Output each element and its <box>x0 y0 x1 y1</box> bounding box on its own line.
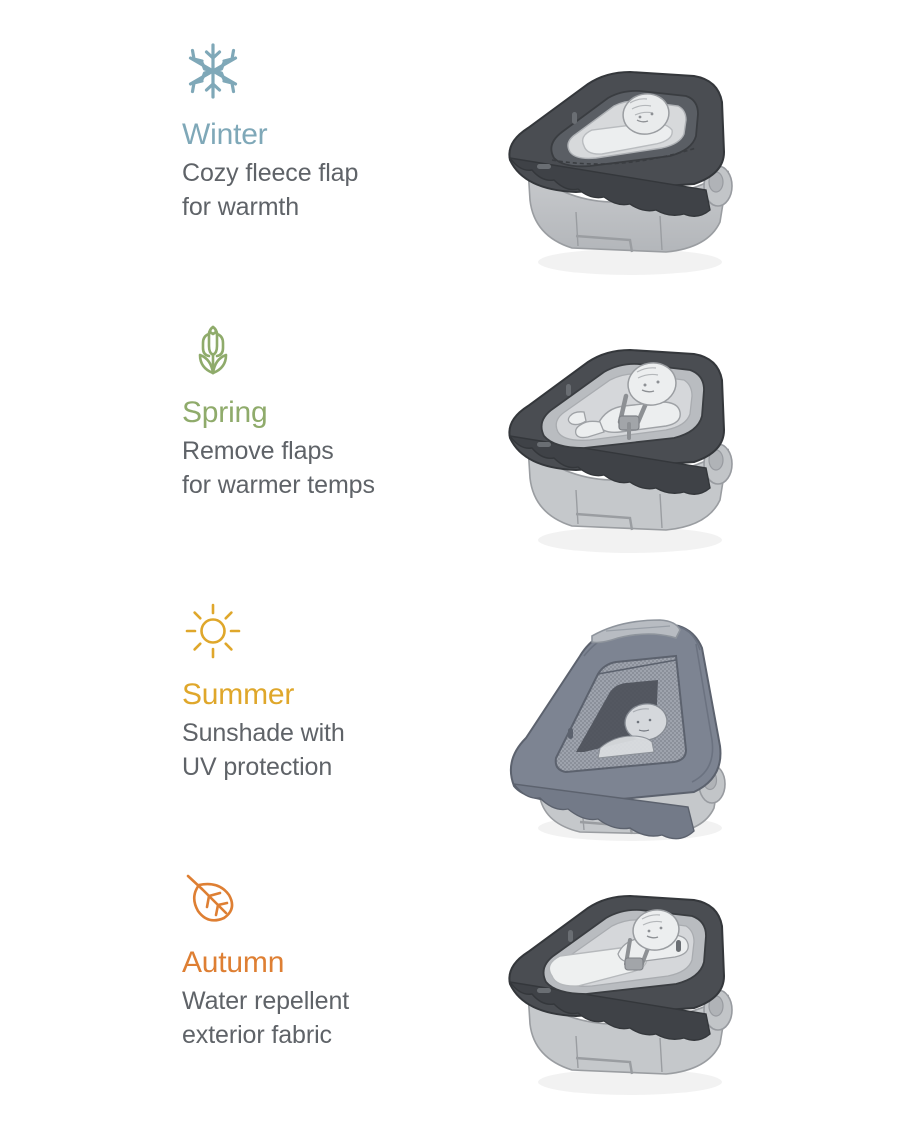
season-row-spring: Spring Remove flaps for warmer temps <box>0 318 900 583</box>
illustration-car-seat-with-fleece-flap <box>480 40 780 290</box>
season-description-spring: Remove flaps for warmer temps <box>182 434 482 502</box>
illustration-car-seat-flaps-removed <box>480 318 780 568</box>
season-text-spring: Spring Remove flaps for warmer temps <box>182 318 482 502</box>
season-label-summer: Summer <box>182 678 482 712</box>
tulip-icon <box>182 318 244 380</box>
illustration-car-seat-with-water-repellent-cover <box>480 868 780 1118</box>
season-row-summer: Summer Sunshade with UV protection <box>0 600 900 865</box>
season-text-autumn: Autumn Water repellent exterior fabric <box>182 868 482 1052</box>
season-label-autumn: Autumn <box>182 946 482 980</box>
season-text-winter: Winter Cozy fleece flap for warmth <box>182 40 482 224</box>
season-description-summer: Sunshade with UV protection <box>182 716 482 784</box>
season-label-spring: Spring <box>182 396 482 430</box>
illustration-car-seat-with-sunshade-canopy <box>480 600 780 850</box>
season-row-autumn: Autumn Water repellent exterior fabric <box>0 868 900 1133</box>
season-row-winter: Winter Cozy fleece flap for warmth <box>0 40 900 305</box>
season-label-winter: Winter <box>182 118 482 152</box>
leaf-icon <box>182 868 244 930</box>
season-description-autumn: Water repellent exterior fabric <box>182 984 482 1052</box>
seasonal-features-list: Winter Cozy fleece flap for warmth <box>0 0 900 1125</box>
season-description-winter: Cozy fleece flap for warmth <box>182 156 482 224</box>
sun-icon <box>182 600 244 662</box>
snowflake-icon <box>182 40 244 102</box>
season-text-summer: Summer Sunshade with UV protection <box>182 600 482 784</box>
